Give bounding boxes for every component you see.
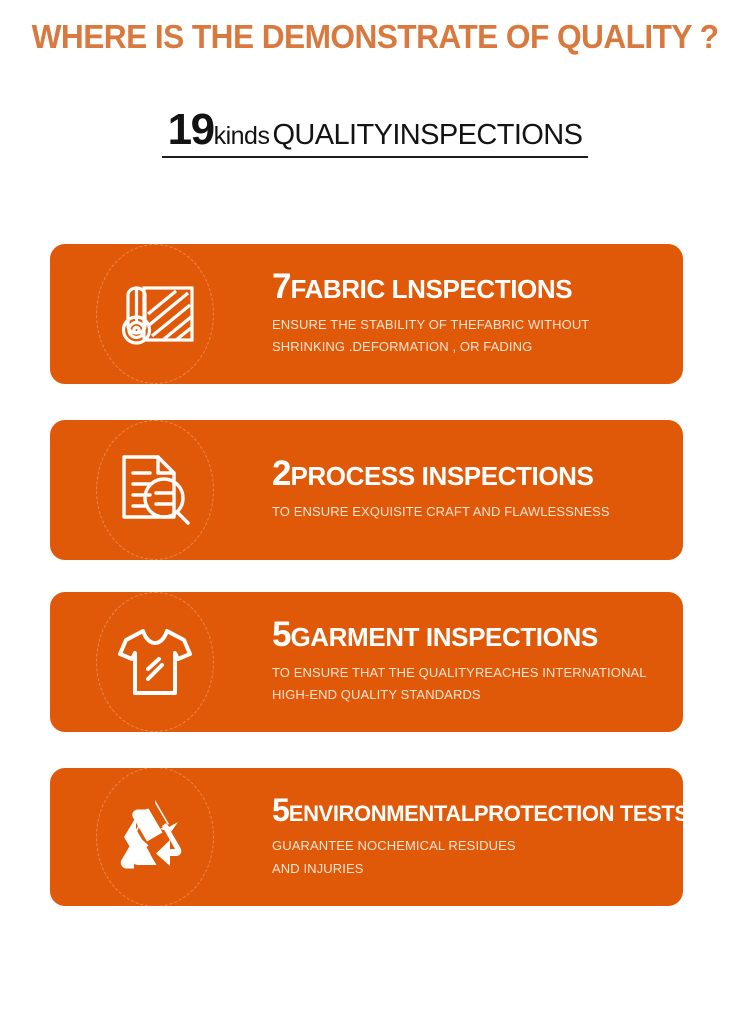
subtitle-block: 19kindsQUALITYINSPECTIONS (0, 108, 750, 158)
card-text-block: 5ENVIRONMENTALPROTECTION TESTS GUARANTEE… (272, 768, 667, 906)
subtitle-underlined: 19kindsQUALITYINSPECTIONS (162, 108, 589, 158)
card-description: ENSURE THE STABILITY OF THEFABRIC WITHOU… (272, 314, 667, 359)
card-heading: 7FABRIC LNSPECTIONS (272, 269, 667, 305)
description-line: AND INJURIES (272, 858, 667, 880)
card-garment-inspections[interactable]: 5GARMENT INSPECTIONS TO ENSURE THAT THE … (50, 592, 683, 732)
card-heading: 5ENVIRONMENTALPROTECTION TESTS (272, 794, 667, 827)
card-fabric-inspections[interactable]: 7FABRIC LNSPECTIONS ENSURE THE STABILITY… (50, 244, 683, 384)
icon-zone (50, 768, 260, 906)
fabric-roll-icon (109, 268, 201, 360)
card-text-block: 5GARMENT INSPECTIONS TO ENSURE THAT THE … (272, 592, 667, 732)
page-title: WHERE IS THE DEMONSTRATE OF QUALITY ? (15, 18, 735, 56)
card-text-block: 2PROCESS INSPECTIONS TO ENSURE EXQUISITE… (272, 420, 667, 560)
recycle-icon (109, 791, 201, 883)
subtitle-count: 19 (168, 105, 214, 154)
card-title: GARMENT INSPECTIONS (290, 622, 597, 652)
description-line: HIGH-END QUALITY STANDARDS (272, 684, 667, 706)
card-number: 5 (272, 615, 290, 654)
card-environmental-protection-tests[interactable]: 5ENVIRONMENTALPROTECTION TESTS GUARANTEE… (50, 768, 683, 906)
card-text-block: 7FABRIC LNSPECTIONS ENSURE THE STABILITY… (272, 244, 667, 384)
card-heading: 5GARMENT INSPECTIONS (272, 617, 667, 653)
card-description: TO ENSURE THAT THE QUALITYREACHES INTERN… (272, 662, 667, 707)
card-description: TO ENSURE EXQUISITE CRAFT AND FLAWLESSNE… (272, 501, 667, 523)
card-process-inspections[interactable]: 2PROCESS INSPECTIONS TO ENSURE EXQUISITE… (50, 420, 683, 560)
quality-inspections-infographic: WHERE IS THE DEMONSTRATE OF QUALITY ? 19… (0, 0, 750, 1011)
card-title: FABRIC LNSPECTIONS (290, 274, 572, 304)
card-number: 2 (272, 454, 290, 493)
card-number: 7 (272, 267, 290, 306)
description-line: TO ENSURE THAT THE QUALITYREACHES INTERN… (272, 662, 667, 684)
card-number: 5 (272, 792, 289, 828)
description-line: GUARANTEE NOCHEMICAL RESIDUES (272, 835, 667, 857)
description-line: TO ENSURE EXQUISITE CRAFT AND FLAWLESSNE… (272, 501, 667, 523)
card-title: PROCESS INSPECTIONS (290, 461, 593, 491)
card-description: GUARANTEE NOCHEMICAL RESIDUES AND INJURI… (272, 835, 667, 880)
tshirt-icon (109, 616, 201, 708)
document-magnifier-icon (109, 444, 201, 536)
card-heading: 2PROCESS INSPECTIONS (272, 456, 667, 492)
description-line: ENSURE THE STABILITY OF THEFABRIC WITHOU… (272, 314, 667, 336)
description-line: SHRINKING .DEFORMATION , OR FADING (272, 336, 667, 358)
card-title: ENVIRONMENTALPROTECTION TESTS (289, 801, 683, 826)
subtitle-kinds-label: kinds (214, 122, 270, 150)
subtitle-main-label: QUALITYINSPECTIONS (272, 119, 582, 151)
icon-zone (50, 244, 260, 384)
icon-zone (50, 420, 260, 560)
icon-zone (50, 592, 260, 732)
